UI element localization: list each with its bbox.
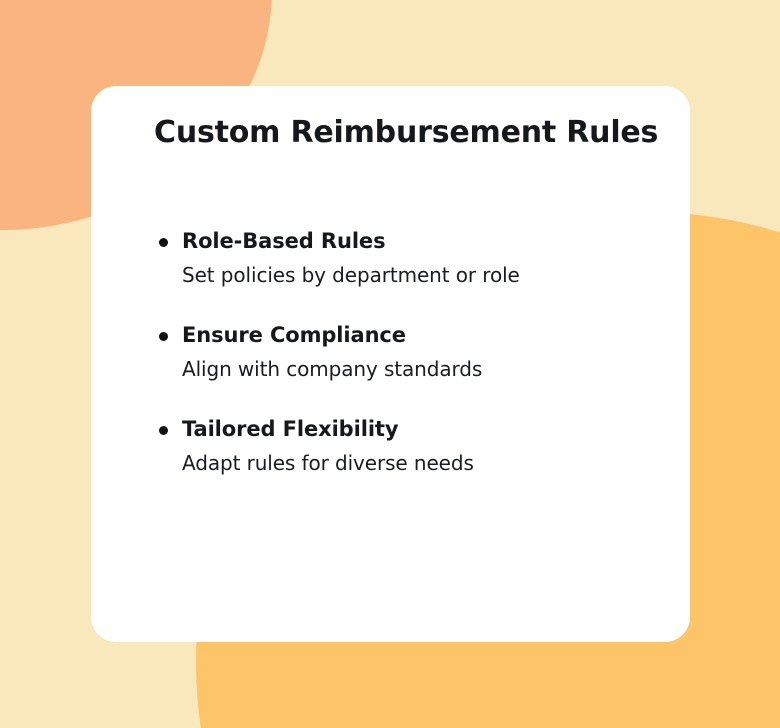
rule-detail: Align with company standards <box>182 356 660 383</box>
bullet-icon <box>159 332 168 341</box>
bullet-icon <box>159 426 168 435</box>
rule-heading: Ensure Compliance <box>182 322 660 350</box>
rule-heading: Role-Based Rules <box>182 228 660 256</box>
list-item: Role-Based Rules Set policies by departm… <box>154 228 660 289</box>
rules-list: Role-Based Rules Set policies by departm… <box>154 228 660 477</box>
rule-detail: Adapt rules for diverse needs <box>182 450 660 477</box>
list-item: Tailored Flexibility Adapt rules for div… <box>154 416 660 477</box>
page-title: Custom Reimbursement Rules <box>154 114 658 152</box>
content-card: Custom Reimbursement Rules Role-Based Ru… <box>91 86 690 642</box>
rule-heading: Tailored Flexibility <box>182 416 660 444</box>
list-item: Ensure Compliance Align with company sta… <box>154 322 660 383</box>
slide-canvas: Custom Reimbursement Rules Role-Based Ru… <box>0 0 780 728</box>
rule-detail: Set policies by department or role <box>182 262 660 289</box>
bullet-icon <box>159 238 168 247</box>
